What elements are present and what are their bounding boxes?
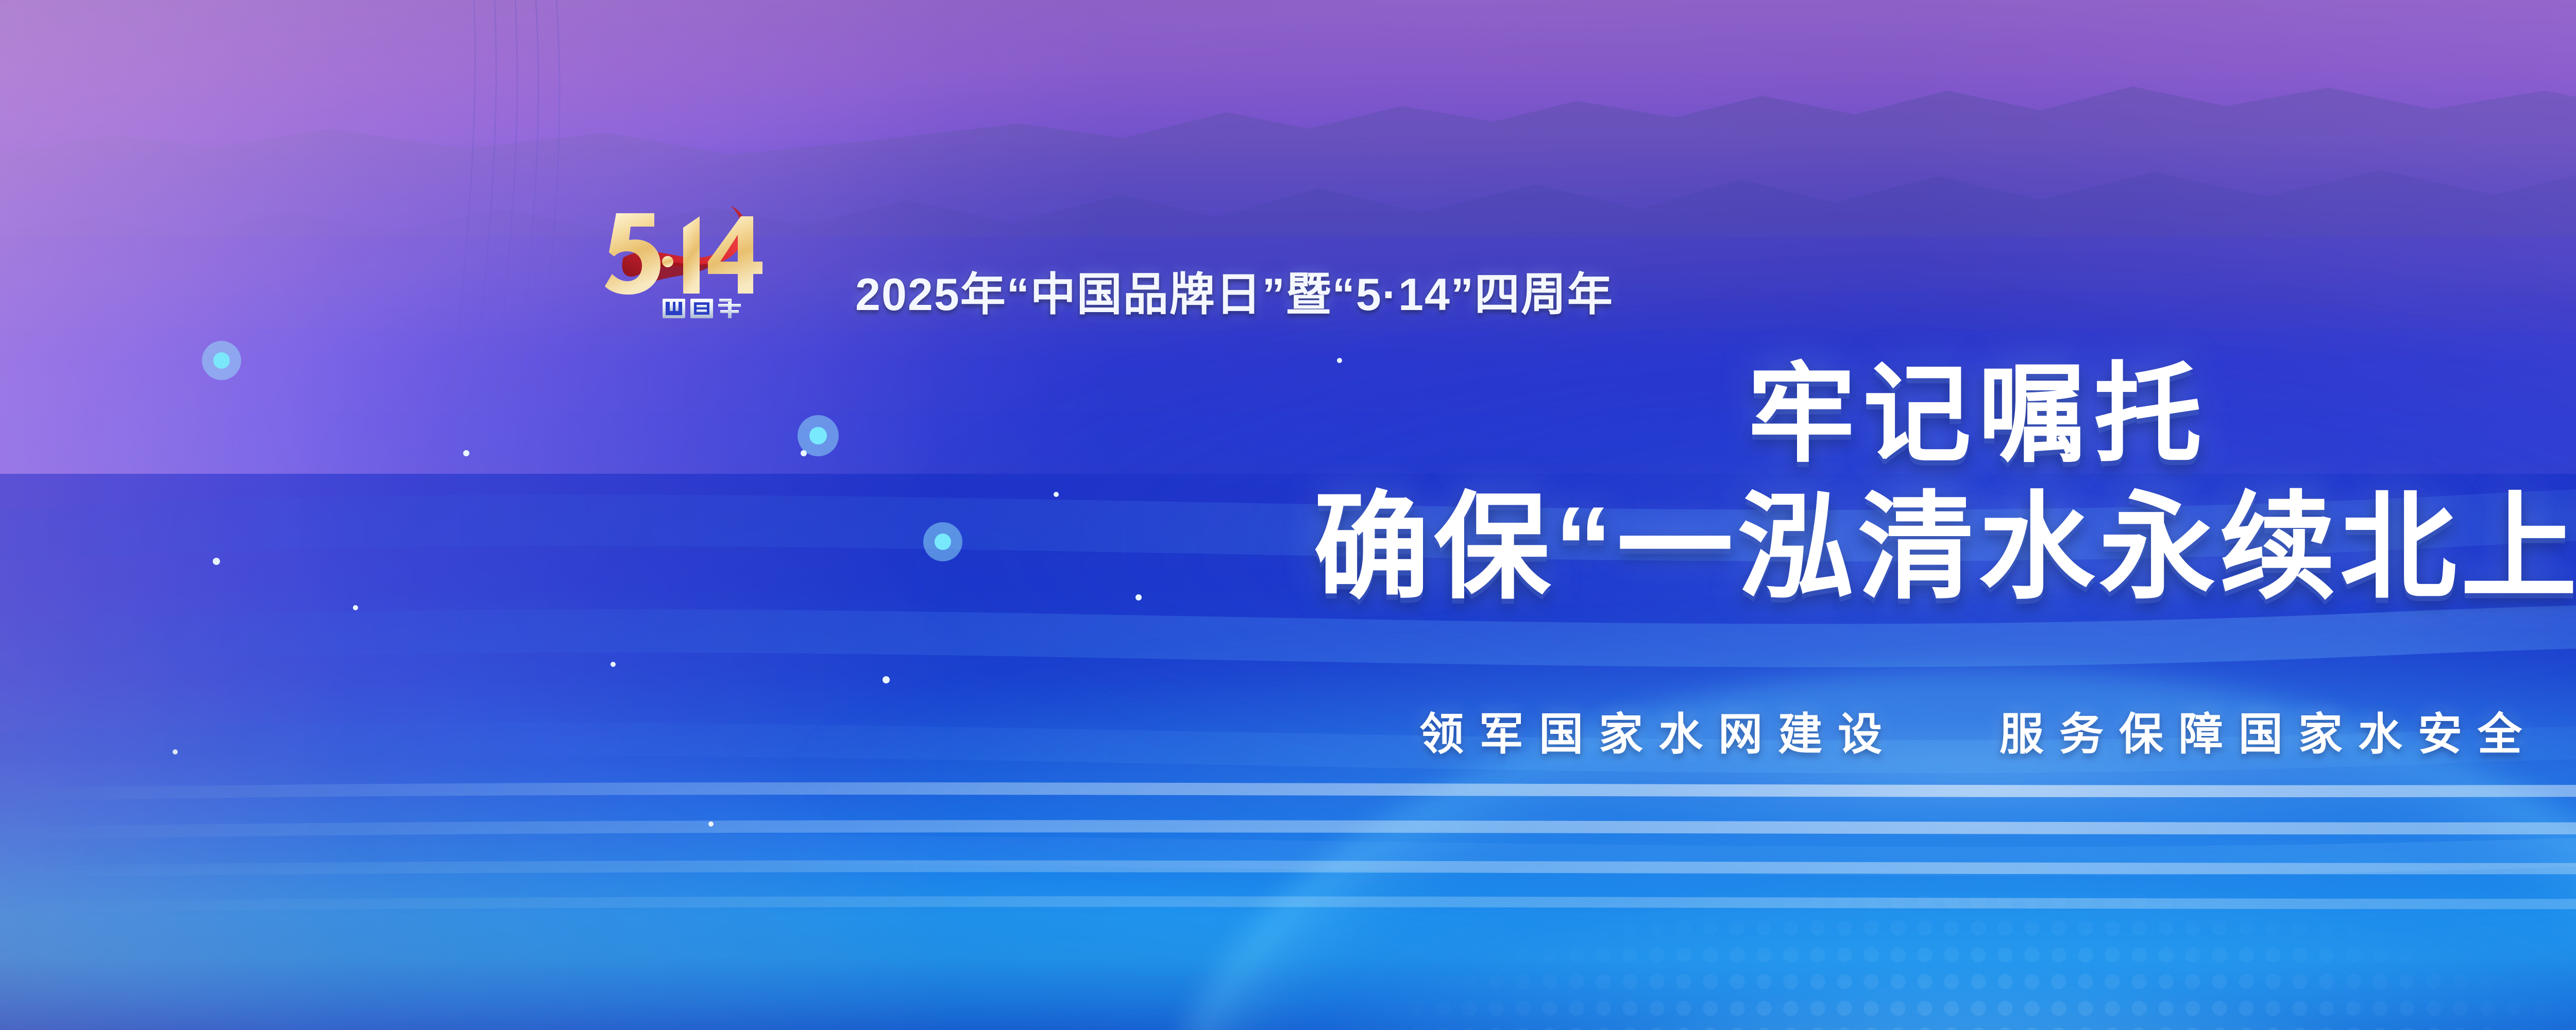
event-backdrop-banner: 2025年“中国品牌日”暨“5·14”四周年 <box>0 0 2576 1030</box>
vignette-overlay <box>0 0 2576 1030</box>
